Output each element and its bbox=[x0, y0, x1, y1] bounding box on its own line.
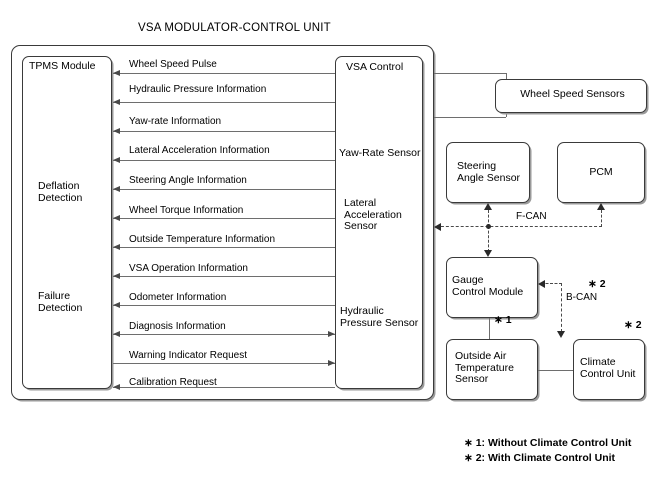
gauge-control-module-label: Gauge Control Module bbox=[452, 275, 540, 298]
signal-arrow-left-wheel-torque-information bbox=[113, 215, 120, 221]
signal-line-steering-angle-information bbox=[113, 189, 335, 190]
yaw-rate-sensor-label: Yaw-Rate Sensor bbox=[339, 148, 425, 160]
connector-oat-to-climate-control-unit bbox=[538, 370, 573, 371]
signal-label-steering-angle-information: Steering Angle Information bbox=[129, 175, 247, 186]
signal-arrow-left-steering-angle-information bbox=[113, 186, 120, 192]
signal-line-diagnosis-information bbox=[113, 334, 335, 335]
signal-label-wheel-speed-pulse: Wheel Speed Pulse bbox=[129, 59, 217, 70]
signal-arrow-left-vsa-operation-information bbox=[113, 273, 120, 279]
tpms-function-deflation-detection: Deflation Detection bbox=[38, 181, 110, 204]
f-can-bus-label: F-CAN bbox=[516, 211, 547, 222]
climate-control-unit-label: Climate Control Unit bbox=[580, 357, 646, 380]
signal-line-wheel-torque-information bbox=[113, 218, 335, 219]
connector-gauge-to-outside-air-temperature-sensor bbox=[489, 318, 490, 340]
signal-arrow-left-odometer-information bbox=[113, 302, 120, 308]
signal-line-vsa-operation-information bbox=[113, 276, 335, 277]
tpms-function-failure-detection: Failure Detection bbox=[38, 291, 110, 314]
wheel-speed-sensors-label: Wheel Speed Sensors bbox=[505, 89, 640, 101]
f-can-bus-line bbox=[436, 226, 602, 227]
signal-arrow-left-hydraulic-pressure-information bbox=[113, 99, 120, 105]
marker-star2-climate-control-unit: ∗ 2 bbox=[624, 319, 642, 331]
tpms-module-label: TPMS Module bbox=[29, 61, 111, 73]
b-can-arrow-to-climate-control-unit bbox=[557, 331, 565, 338]
f-can-branch-pcm bbox=[601, 210, 602, 227]
legend-item-star2: ∗ 2: With Climate Control Unit bbox=[464, 451, 631, 466]
signal-arrow-left-yaw-rate-information bbox=[113, 128, 120, 134]
f-can-arrow-to-steering-angle-sensor bbox=[484, 203, 492, 210]
signal-label-lateral-acceleration-information: Lateral Acceleration Information bbox=[129, 145, 270, 156]
signal-label-odometer-information: Odometer Information bbox=[129, 292, 226, 303]
lateral-acceleration-sensor-label: Lateral Acceleration Sensor bbox=[344, 198, 426, 233]
signal-arrow-right-diagnosis-information bbox=[328, 331, 335, 337]
f-can-arrow-to-pcm bbox=[597, 203, 605, 210]
pcm-label: PCM bbox=[562, 167, 640, 179]
signal-arrow-left-lateral-acceleration-information bbox=[113, 157, 120, 163]
page-title: VSA MODULATOR-CONTROL UNIT bbox=[138, 22, 331, 34]
b-can-arrow-to-gauge-control-module bbox=[538, 280, 545, 288]
b-can-bus-label: B-CAN bbox=[566, 292, 597, 303]
tpms-module-box[interactable] bbox=[22, 56, 112, 389]
hydraulic-pressure-sensor-label: Hydraulic Pressure Sensor bbox=[340, 306, 426, 329]
b-can-bus-line-vertical bbox=[561, 283, 562, 332]
diagram-canvas: VSA MODULATOR-CONTROL UNIT TPMS Module D… bbox=[0, 0, 658, 492]
legend: ∗ 1: Without Climate Control Unit ∗ 2: W… bbox=[464, 436, 631, 466]
steering-angle-sensor-label: Steering Angle Sensor bbox=[457, 161, 531, 184]
signal-label-vsa-operation-information: VSA Operation Information bbox=[129, 263, 248, 274]
f-can-arrow-to-vsa-modulator bbox=[434, 223, 441, 231]
signal-arrow-right-warning-indicator-request bbox=[328, 360, 335, 366]
signal-line-warning-indicator-request bbox=[113, 363, 335, 364]
marker-star2-b-can: ∗ 2 bbox=[588, 278, 606, 290]
signal-label-outside-temperature-information: Outside Temperature Information bbox=[129, 234, 275, 245]
signal-label-calibration-request: Calibration Request bbox=[129, 377, 217, 388]
signal-label-diagnosis-information: Diagnosis Information bbox=[129, 321, 226, 332]
marker-star1-gauge-to-outside-air-temperature-sensor: ∗ 1 bbox=[494, 314, 512, 326]
outside-air-temperature-sensor-label: Outside Air Temperature Sensor bbox=[455, 351, 541, 386]
signal-label-hydraulic-pressure-information: Hydraulic Pressure Information bbox=[129, 84, 266, 95]
connector-wheel-speed-sensors-top bbox=[434, 73, 506, 74]
signal-line-lateral-acceleration-information bbox=[113, 160, 335, 161]
connector-wheel-speed-sensors-bottom bbox=[434, 117, 506, 118]
signal-label-yaw-rate-information: Yaw-rate Information bbox=[129, 116, 221, 127]
signal-line-outside-temperature-information bbox=[113, 247, 335, 248]
legend-item-star1: ∗ 1: Without Climate Control Unit bbox=[464, 436, 631, 451]
f-can-arrow-to-gauge-control-module bbox=[484, 250, 492, 257]
f-can-bus-junction-dot bbox=[486, 224, 491, 229]
signal-label-wheel-torque-information: Wheel Torque Information bbox=[129, 205, 243, 216]
signal-label-warning-indicator-request: Warning Indicator Request bbox=[129, 350, 247, 361]
signal-line-odometer-information bbox=[113, 305, 335, 306]
signal-line-yaw-rate-information bbox=[113, 131, 335, 132]
signal-arrow-left-diagnosis-information bbox=[113, 331, 120, 337]
signal-line-wheel-speed-pulse bbox=[113, 73, 335, 74]
signal-line-hydraulic-pressure-information bbox=[113, 102, 335, 103]
signal-arrow-left-wheel-speed-pulse bbox=[113, 70, 120, 76]
signal-arrow-left-outside-temperature-information bbox=[113, 244, 120, 250]
vsa-control-label: VSA Control bbox=[346, 62, 426, 74]
signal-arrow-left-calibration-request bbox=[113, 384, 120, 390]
f-can-branch-gauge-control-module bbox=[488, 226, 489, 252]
